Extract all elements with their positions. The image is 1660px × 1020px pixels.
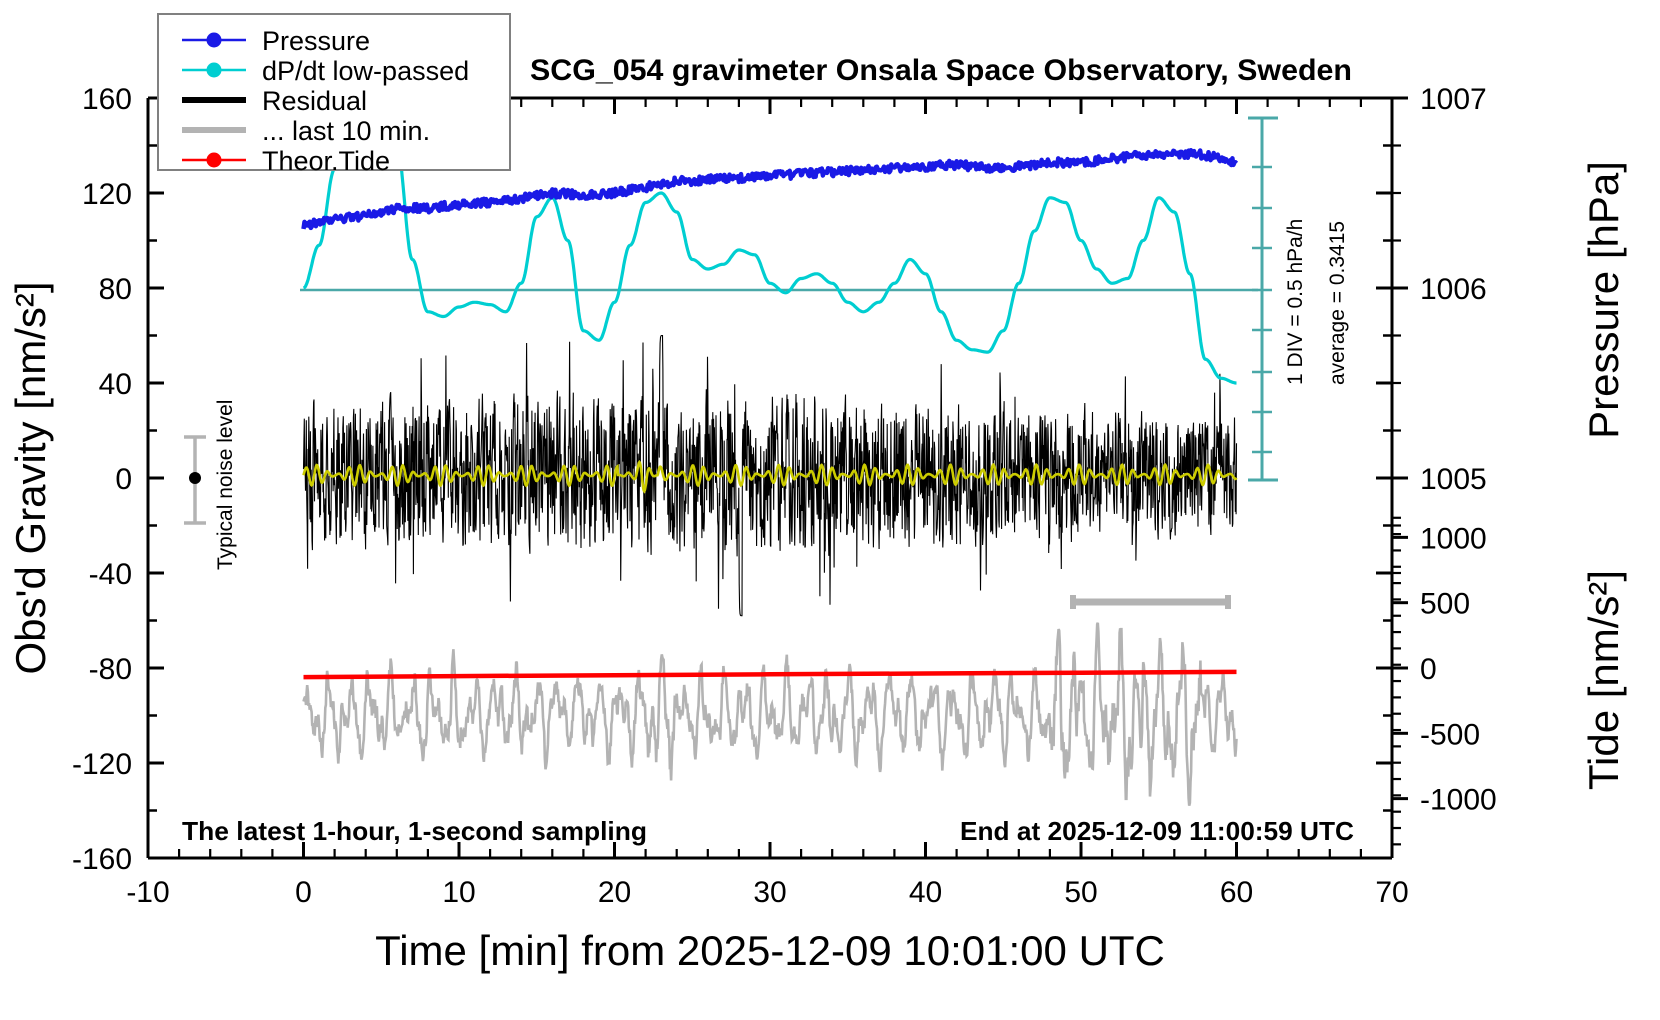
gravimeter-plot bbox=[0, 0, 1660, 1020]
